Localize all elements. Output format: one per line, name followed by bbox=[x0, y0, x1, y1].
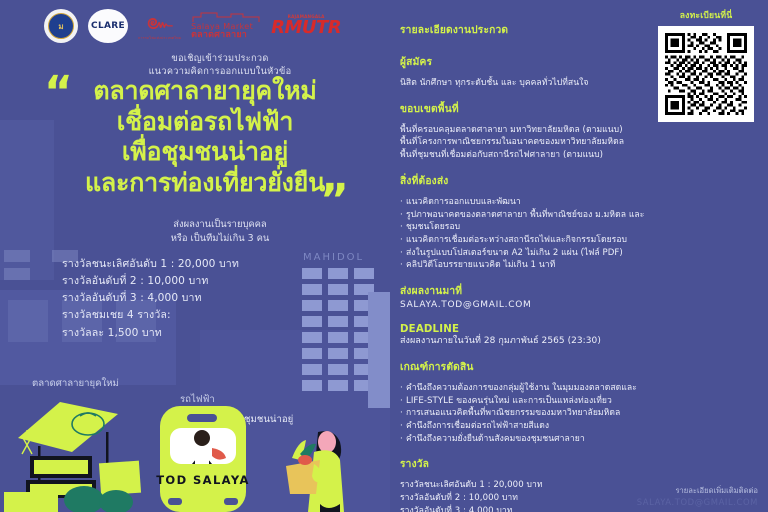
headline-line-1: ตลาดศาลายายุคใหม่ bbox=[40, 76, 370, 107]
logo-strip: ม CLARE ๛ การรถไฟแห่งประเทศไทย Salaya Ma… bbox=[44, 6, 384, 46]
deadline-line: ส่งผลงานภายในวันที่ 28 กุมภาพันธ์ 2565 (… bbox=[400, 335, 690, 348]
applicants-line: นิสิต นักศึกษา ทุกระดับชั้น และ บุคคลทั่… bbox=[400, 77, 690, 90]
headline-line-2: เชื่อมต่อรถไฟฟ้า bbox=[40, 107, 370, 138]
srt-caption: การรถไฟแห่งประเทศไทย bbox=[138, 35, 181, 41]
backdrop-window bbox=[4, 268, 30, 280]
backdrop-window bbox=[8, 300, 48, 342]
illustration-label-train: รถไฟฟ้า bbox=[180, 392, 215, 407]
section-head-deliverables: สิ่งที่ต้องส่ง bbox=[400, 173, 690, 189]
illustration-label-community: ชุมชนน่าอยู่ bbox=[244, 412, 293, 427]
invite-text: ขอเชิญเข้าร่วมประกวด แนวความคิดการออกแบบ… bbox=[70, 52, 370, 79]
srt-garuda-logo: ๛ การรถไฟแห่งประเทศไทย bbox=[138, 11, 181, 41]
mahidol-seal-glyph: ม bbox=[48, 13, 74, 39]
footer-contact: รายละเอียดเพิ่มเติมติดต่อ SALAYA.TOD@GMA… bbox=[637, 486, 758, 508]
section-head-applicants: ผู้สมัคร bbox=[400, 54, 690, 70]
prize-item: รางวัลอันดับที่ 3 : 4,000 บาท bbox=[62, 290, 239, 307]
section-head-criteria: เกณฑ์การตัดสิน bbox=[400, 359, 690, 375]
submission-note-2: หรือ เป็นทีมไม่เกิน 3 คน bbox=[70, 232, 370, 246]
criteria-item: การเสนอแนวคิดพื้นที่พาณิชยกรรมของมหาวิทย… bbox=[400, 407, 690, 420]
prize-item: รางวัลชมเชย 4 รางวัล: bbox=[62, 307, 239, 324]
salaya-market-th: ตลาดศาลายา bbox=[191, 31, 247, 40]
mahidol-seal-logo: ม bbox=[44, 9, 78, 43]
headline-block: ตลาดศาลายายุคใหม่ เชื่อมต่อรถไฟฟ้า เพื่อ… bbox=[40, 76, 370, 198]
illustration-label-market: ตลาดศาลายายุคใหม่ bbox=[32, 376, 119, 391]
criteria-item: คำนึงถึงความยั่งยืนด้านสังคมของชุมชนศาลา… bbox=[400, 433, 690, 446]
deliverable-item: ส่งในรูปแบบโปสเตอร์ขนาด A2 ไม่เกิน 2 แผ่… bbox=[400, 247, 690, 260]
deliverable-item: คลิปวิดีโอบรรยายแนวคิด ไม่เกิน 1 นาที bbox=[400, 259, 690, 272]
footer-contact-label: รายละเอียดเพิ่มเติมติดต่อ bbox=[637, 486, 758, 496]
left-panel: ม CLARE ๛ การรถไฟแห่งประเทศไทย Salaya Ma… bbox=[0, 0, 390, 512]
section-head-deadline: DEADLINE bbox=[400, 324, 690, 335]
submission-note-1: ส่งผลงานเป็นรายบุคคล bbox=[70, 218, 370, 232]
right-content: ผู้สมัคร นิสิต นักศึกษา ทุกระดับชั้น และ… bbox=[400, 54, 690, 512]
salaya-market-logo: Salaya Market ตลาดศาลายา bbox=[191, 11, 261, 41]
poster-root: ม CLARE ๛ การรถไฟแห่งประเทศไทย Salaya Ma… bbox=[0, 0, 768, 512]
garuda-icon: ๛ bbox=[146, 11, 173, 34]
footer-contact-email[interactable]: SALAYA.TOD@GMAIL.COM bbox=[637, 497, 758, 508]
deliverable-item: แนวคิดการเชื่อมต่อระหว่างสถานีรถไฟและกิจ… bbox=[400, 234, 690, 247]
train-graphic: TOD SALAYA bbox=[156, 406, 250, 512]
scope-line: พื้นที่โครงการพาณิชยกรรมในอนาคตของมหาวิท… bbox=[400, 136, 690, 149]
prize-list-left: รางวัลชนะเลิศอันดับ 1 : 20,000 บาท รางวั… bbox=[62, 256, 239, 342]
criteria-list: คำนึงถึงความต้องการของกลุ่มผู้ใช้งาน ในม… bbox=[400, 382, 690, 446]
submit-email[interactable]: SALAYA.TOD@GMAIL.COM bbox=[400, 299, 690, 312]
backdrop-window bbox=[4, 250, 30, 262]
clare-logo: CLARE bbox=[88, 9, 128, 43]
mahidol-building-label: MAHIDOL bbox=[303, 252, 364, 263]
submission-note: ส่งผลงานเป็นรายบุคคล หรือ เป็นทีมไม่เกิน… bbox=[70, 218, 370, 246]
deliverable-item: รูปภาพอนาคตของตลาดศาลายา พื้นที่พาณิชย์ข… bbox=[400, 209, 690, 222]
criteria-item: คำนึงถึงการเชื่อมต่อรถไฟฟ้าสายสีแดง bbox=[400, 420, 690, 433]
prize-item: รางวัลชนะเลิศอันดับ 1 : 20,000 บาท bbox=[62, 256, 239, 273]
scope-line: พื้นที่ชุมชนที่เชื่อมต่อกับสถานีรถไฟศาลา… bbox=[400, 149, 690, 162]
qr-label: ลงทะเบียนที่นี่ bbox=[658, 8, 754, 22]
deliverables-list: แนวคิดการออกแบบและพัฒนา รูปภาพอนาคตของตล… bbox=[400, 196, 690, 272]
criteria-item-cont: LIFE-STYLE ของคนรุ่นใหม่ และการเป็นแหล่ง… bbox=[400, 395, 690, 408]
scope-line: พื้นที่ครอบคลุมตลาดศาลายา มหาวิทยาลัยมหิ… bbox=[400, 124, 690, 137]
headline-line-3: เพื่อชุมชนน่าอยู่ bbox=[40, 137, 370, 168]
prize-item: รางวัลอันดับที่ 2 : 10,000 บาท bbox=[62, 273, 239, 290]
rmutr-main-text: RMUTR bbox=[271, 19, 341, 37]
deliverable-item-cont: ชุมชนโดยรอบ bbox=[400, 221, 690, 234]
section-head-prizes: รางวัล bbox=[400, 456, 690, 472]
section-head-submit-to: ส่งผลงานมาที่ bbox=[400, 283, 690, 299]
shopper-graphic bbox=[286, 431, 344, 512]
prize-item: รางวัลละ 1,500 บาท bbox=[62, 325, 239, 342]
invite-line-1: ขอเชิญเข้าร่วมประกวด bbox=[70, 52, 370, 65]
criteria-item: คำนึงถึงความต้องการของกลุ่มผู้ใช้งาน ในม… bbox=[400, 382, 690, 395]
section-head-scope: ขอบเขตพื้นที่ bbox=[400, 101, 690, 117]
rmutr-logo: RAJAMANGALA RMUTR bbox=[271, 15, 341, 37]
headline-line-4: และการท่องเที่ยวยั่งยืน bbox=[40, 168, 370, 199]
right-panel: ลงทะเบียนที่นี่ bbox=[396, 0, 768, 512]
illustration-scene: ตลาดศาลายายุคใหม่ รถไฟฟ้า ชุมชนน่าอยู่ bbox=[0, 380, 390, 512]
deliverable-item: แนวคิดการออกแบบและพัฒนา bbox=[400, 196, 690, 209]
market-stall-graphic bbox=[4, 402, 141, 512]
train-body-text: TOD SALAYA bbox=[156, 473, 250, 487]
detail-section-title: รายละเอียดงานประกวด bbox=[400, 22, 508, 38]
